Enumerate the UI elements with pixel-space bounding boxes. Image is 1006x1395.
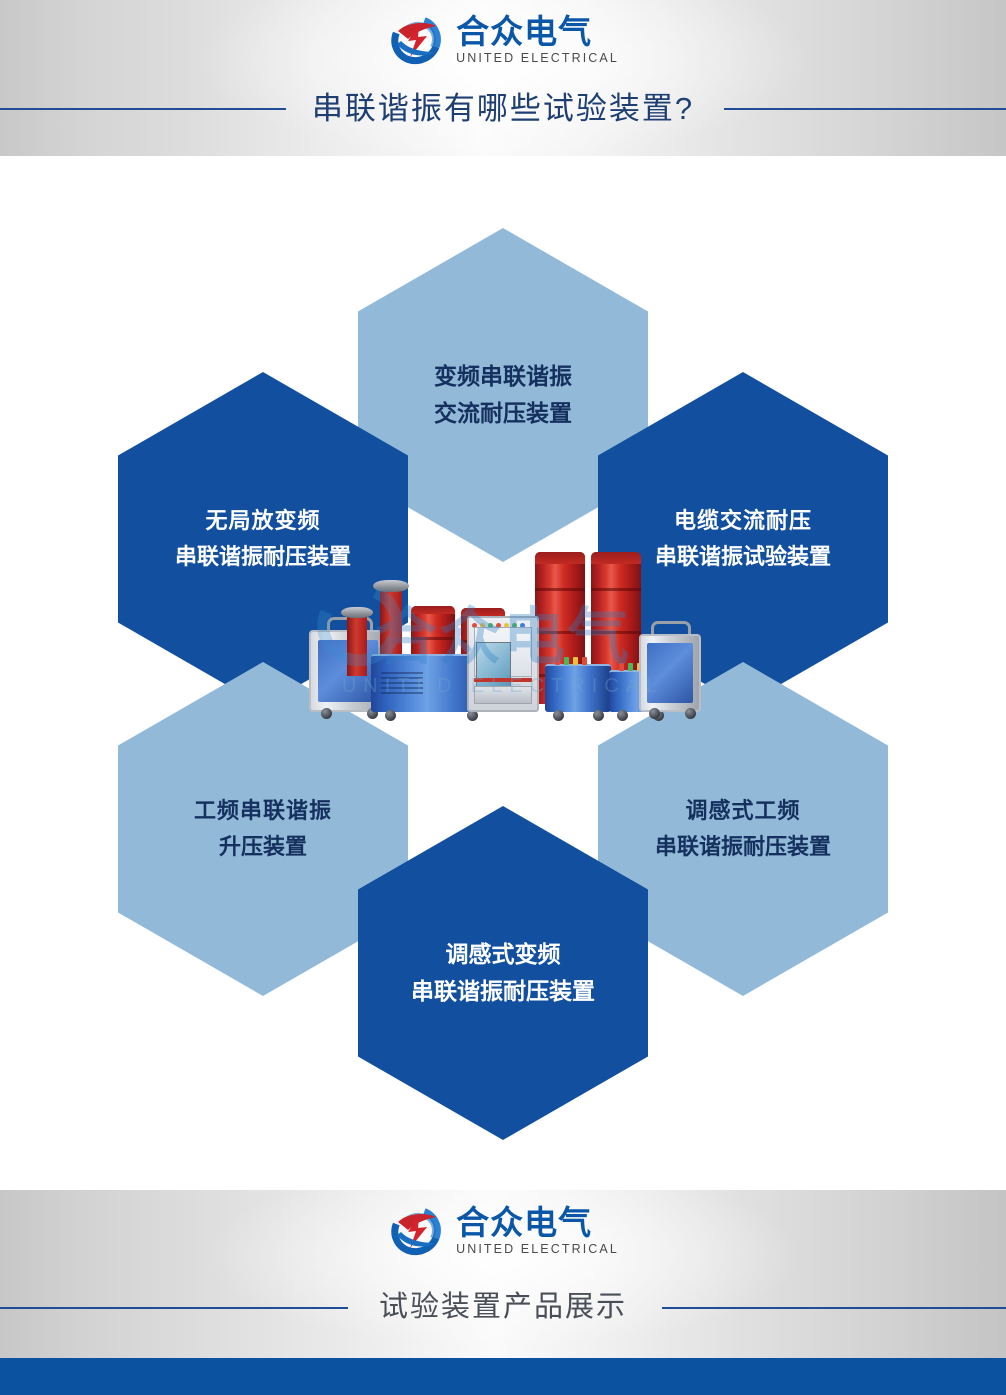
console-drawer bbox=[474, 686, 531, 704]
page-header: 合众电气 UNITED ELECTRICAL 串联谐振有哪些试验装置? bbox=[0, 0, 1006, 156]
hexagon-diagram: 变频串联谐振 交流耐压装置 无局放变频 串联谐振耐压装置 电缆交流耐压 串联谐振… bbox=[0, 156, 1006, 1190]
lightning-swoosh-logo-icon bbox=[387, 1202, 447, 1260]
logo-name-en: UNITED ELECTRICAL bbox=[456, 51, 619, 66]
page-footer: 合众电气 UNITED ELECTRICAL bbox=[0, 1190, 1006, 1358]
hexagon-label-line1: 工频串联谐振 bbox=[194, 793, 332, 829]
equipment-terminal-box-1 bbox=[545, 664, 611, 712]
equipment-control-console bbox=[467, 616, 539, 712]
hexagon-label-line1: 变频串联谐振 bbox=[434, 358, 572, 395]
hexagon-label-line1: 调感式工频 bbox=[685, 793, 800, 829]
hexagon-label-line2: 串联谐振耐压装置 bbox=[655, 829, 831, 865]
equipment-reactor-stem-small bbox=[347, 614, 367, 676]
logo-name-cn: 合众电气 bbox=[456, 15, 619, 49]
hexagon-label-line1: 调感式变频 bbox=[446, 936, 561, 973]
hexagon-label-line2: 交流耐压装置 bbox=[434, 395, 572, 432]
series-resonance-test-equipment-photo bbox=[303, 536, 703, 726]
equipment-corona-cap-small bbox=[341, 607, 373, 618]
lightning-swoosh-logo-icon bbox=[387, 11, 447, 69]
footer-logo-name-en: UNITED ELECTRICAL bbox=[456, 1242, 619, 1257]
hexagon-label-line2: 串联谐振耐压装置 bbox=[411, 973, 595, 1010]
hexagon-label-line1: 电缆交流耐压 bbox=[674, 503, 812, 539]
equipment-corona-cap-medium bbox=[373, 580, 409, 592]
footer-logo[interactable]: 合众电气 UNITED ELECTRICAL bbox=[387, 1202, 619, 1260]
page-title: 串联谐振有哪些试验装置? bbox=[0, 88, 1006, 130]
hexagon-label-line2: 升压装置 bbox=[219, 829, 307, 865]
terminal-posts-1 bbox=[555, 657, 587, 665]
hexagon-label-line1: 无局放变频 bbox=[205, 503, 320, 539]
footer-caption: 试验装置产品展示 bbox=[0, 1286, 1006, 1328]
bottom-accent-bar bbox=[0, 1358, 1006, 1395]
equipment-trunk-case-right bbox=[639, 634, 701, 712]
header-logo[interactable]: 合众电气 UNITED ELECTRICAL bbox=[387, 11, 619, 69]
footer-logo-name-cn: 合众电气 bbox=[456, 1206, 619, 1240]
